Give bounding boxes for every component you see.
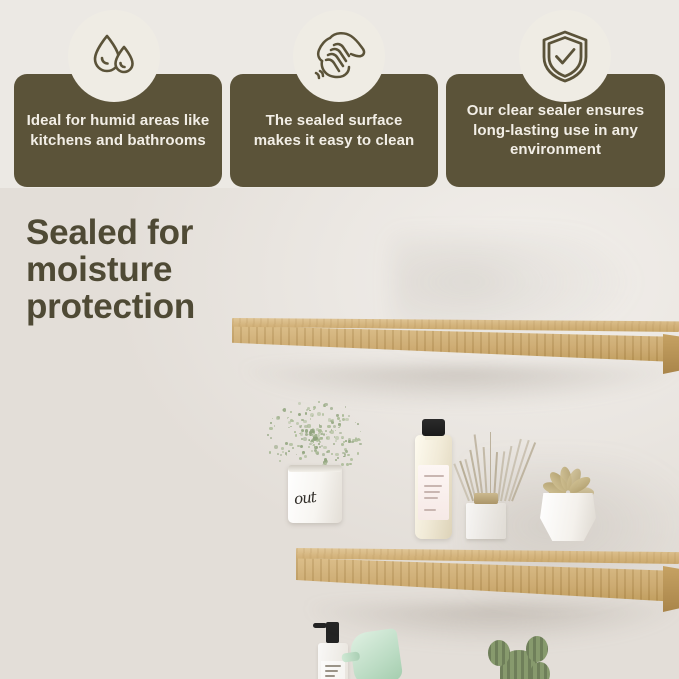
lower-shelf-end-grain <box>663 566 679 612</box>
pot-rim <box>288 465 342 472</box>
shield-check-glyph <box>538 28 592 84</box>
greenery-foliage <box>258 388 370 476</box>
product-infographic: out <box>0 0 679 679</box>
diffuser-collar <box>474 493 498 504</box>
upper-shelf-front-face <box>232 326 679 368</box>
hand-wiping-cloth-icon <box>293 10 385 102</box>
hand-wiping-cloth-glyph <box>310 29 368 83</box>
soap-label <box>321 661 345 679</box>
cactus-plant <box>486 628 550 679</box>
water-droplets-icon <box>68 10 160 102</box>
white-plant-pot: out <box>288 465 342 523</box>
shield-check-icon <box>519 10 611 102</box>
reed-diffuser <box>466 503 506 539</box>
feature-card-row: Ideal for humid areas like kitchens and … <box>0 0 679 190</box>
bottle-label <box>418 465 449 520</box>
upper-shelf-end-grain <box>663 334 679 374</box>
cactus-arm <box>488 640 510 666</box>
amber-glass-bottle <box>415 435 452 539</box>
feature-card-2-text: The sealed surface makes it easy to clea… <box>230 111 438 151</box>
page-title: Sealed for moisture protection <box>26 214 256 325</box>
lower-shelf-front-face <box>296 558 679 608</box>
cactus-arm <box>530 662 550 679</box>
spray-trigger-head <box>349 628 404 679</box>
pot-script-text: out <box>293 488 316 508</box>
cactus-arm <box>526 636 548 662</box>
water-droplets-glyph <box>86 28 142 84</box>
spray-nozzle <box>341 651 360 662</box>
bottle-cap <box>422 419 445 436</box>
feature-card-3-text: Our clear sealer ensures long-lasting us… <box>446 101 665 160</box>
diffuser-reeds <box>462 431 520 501</box>
feature-card-1-text: Ideal for humid areas like kitchens and … <box>14 111 222 151</box>
